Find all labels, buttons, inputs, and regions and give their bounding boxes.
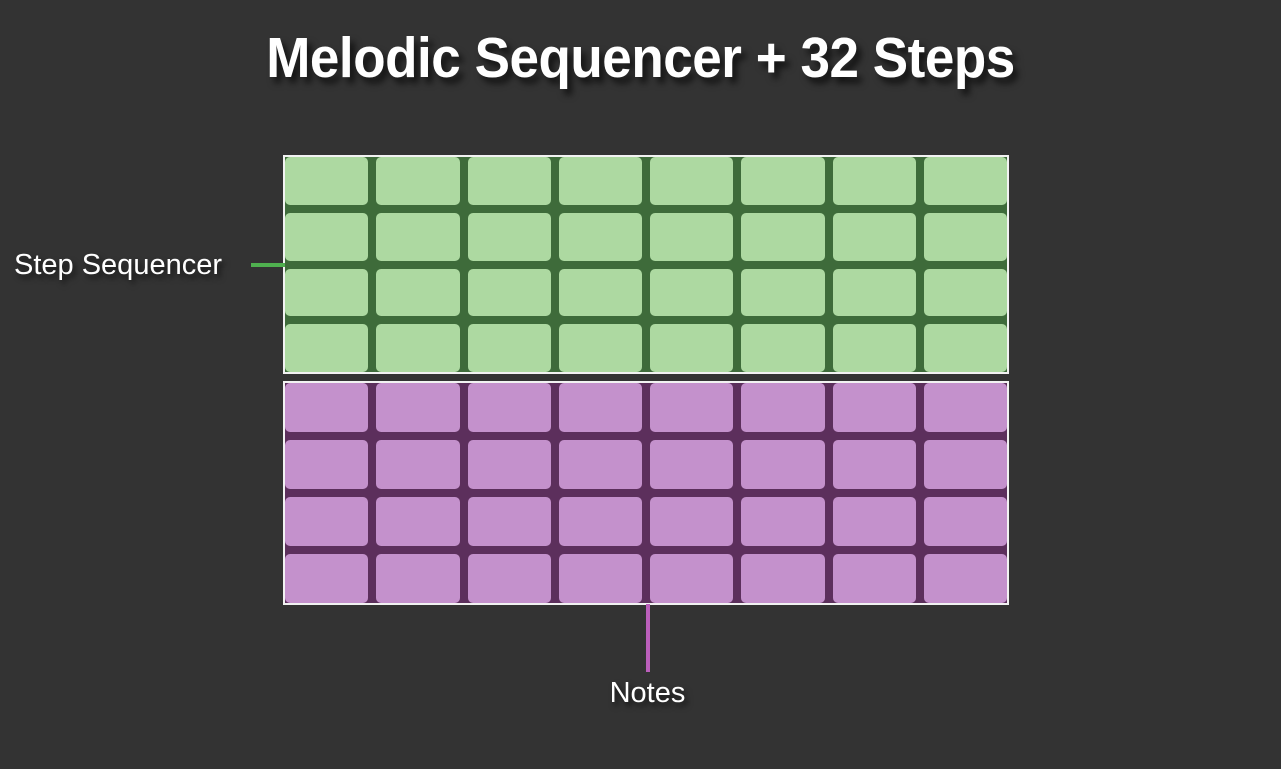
note-cell[interactable] (376, 554, 459, 603)
note-cell[interactable] (285, 440, 368, 489)
step-cell[interactable] (376, 213, 459, 261)
step-cell[interactable] (833, 324, 916, 372)
note-cell[interactable] (924, 440, 1007, 489)
note-cell[interactable] (468, 383, 551, 432)
step-cell[interactable] (833, 269, 916, 317)
note-cell[interactable] (468, 497, 551, 546)
step-cell[interactable] (741, 157, 824, 205)
note-cell[interactable] (468, 440, 551, 489)
note-cell[interactable] (650, 497, 733, 546)
step-cell[interactable] (741, 213, 824, 261)
notes-leader-line (646, 604, 650, 672)
step-cell[interactable] (468, 269, 551, 317)
note-cell[interactable] (650, 383, 733, 432)
note-cell[interactable] (833, 497, 916, 546)
step-cell[interactable] (468, 213, 551, 261)
note-cell[interactable] (376, 383, 459, 432)
note-cell[interactable] (833, 440, 916, 489)
note-cell[interactable] (559, 440, 642, 489)
step-cell[interactable] (285, 213, 368, 261)
step-cell[interactable] (376, 157, 459, 205)
note-cell[interactable] (559, 497, 642, 546)
note-cell[interactable] (559, 554, 642, 603)
step-cell[interactable] (468, 157, 551, 205)
note-cell[interactable] (924, 554, 1007, 603)
step-cell[interactable] (650, 324, 733, 372)
step-cell[interactable] (559, 269, 642, 317)
note-cell[interactable] (468, 554, 551, 603)
step-cell[interactable] (285, 324, 368, 372)
step-sequencer-leader-line (251, 263, 285, 267)
step-cell[interactable] (376, 269, 459, 317)
note-cell[interactable] (924, 383, 1007, 432)
step-sequencer-label: Step Sequencer (14, 249, 222, 282)
notes-grid[interactable] (283, 381, 1009, 605)
step-cell[interactable] (559, 157, 642, 205)
step-cell[interactable] (924, 157, 1007, 205)
step-cell[interactable] (833, 157, 916, 205)
note-cell[interactable] (741, 440, 824, 489)
step-cell[interactable] (741, 269, 824, 317)
step-cell[interactable] (559, 213, 642, 261)
step-sequencer-grid[interactable] (283, 155, 1009, 374)
note-cell[interactable] (741, 554, 824, 603)
step-cell[interactable] (924, 269, 1007, 317)
note-cell[interactable] (376, 440, 459, 489)
note-cell[interactable] (650, 440, 733, 489)
step-cell[interactable] (559, 324, 642, 372)
note-cell[interactable] (741, 497, 824, 546)
note-cell[interactable] (376, 497, 459, 546)
note-cell[interactable] (285, 554, 368, 603)
step-cell[interactable] (376, 324, 459, 372)
note-cell[interactable] (741, 383, 824, 432)
step-cell[interactable] (650, 157, 733, 205)
notes-label: Notes (7, 677, 1281, 710)
step-cell[interactable] (650, 269, 733, 317)
page-title: Melodic Sequencer + 32 Steps (45, 26, 1236, 92)
note-cell[interactable] (285, 383, 368, 432)
note-cell[interactable] (833, 383, 916, 432)
note-cell[interactable] (559, 383, 642, 432)
step-cell[interactable] (285, 269, 368, 317)
step-cell[interactable] (924, 213, 1007, 261)
step-cell[interactable] (468, 324, 551, 372)
note-cell[interactable] (285, 497, 368, 546)
step-cell[interactable] (924, 324, 1007, 372)
step-cell[interactable] (833, 213, 916, 261)
note-cell[interactable] (650, 554, 733, 603)
step-cell[interactable] (650, 213, 733, 261)
step-cell[interactable] (741, 324, 824, 372)
sequencer-diagram: Melodic Sequencer + 32 Steps Step Sequen… (0, 0, 1281, 769)
note-cell[interactable] (924, 497, 1007, 546)
step-cell[interactable] (285, 157, 368, 205)
note-cell[interactable] (833, 554, 916, 603)
